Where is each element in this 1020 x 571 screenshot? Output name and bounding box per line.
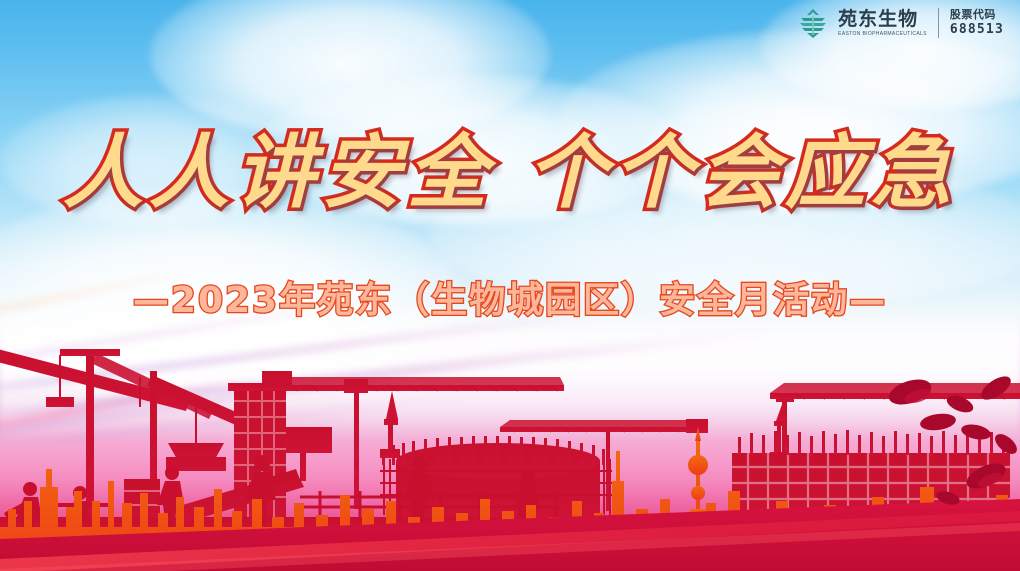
main-headline: 人人讲安全个个会应急 <box>0 133 1020 213</box>
event-subtitle: —2023年苑东（生物城园区）安全月活动— <box>0 283 1020 319</box>
company-name-en: EASTON BIOPHARMACEUTICALS <box>838 32 927 37</box>
petal <box>935 489 961 507</box>
petal <box>992 430 1020 457</box>
company-name-cn: 苑东生物 <box>838 10 927 29</box>
petal <box>960 422 992 442</box>
stock-code-value: 688513 <box>950 22 1004 38</box>
floating-petal-group <box>790 370 1020 540</box>
company-name-block: 苑东生物 EASTON BIOPHARMACEUTICALS <box>838 10 927 37</box>
headline-part-1: 人人讲安全 <box>63 126 493 219</box>
headline-part-2: 个个会应急 <box>527 126 957 219</box>
company-logo-lockup: 苑东生物 EASTON BIOPHARMACEUTICALS 股票代码 6885… <box>797 7 1004 39</box>
petal <box>919 412 957 433</box>
petal <box>977 372 1014 404</box>
logo-divider <box>938 8 939 38</box>
stock-code-label: 股票代码 <box>950 8 1004 22</box>
safety-month-banner: 苑东生物 EASTON BIOPHARMACEUTICALS 股票代码 6885… <box>0 0 1020 571</box>
petal <box>963 458 1010 493</box>
petal <box>944 392 975 415</box>
easton-leaf-mark-icon <box>797 7 829 39</box>
stock-info-block: 股票代码 688513 <box>950 8 1004 38</box>
